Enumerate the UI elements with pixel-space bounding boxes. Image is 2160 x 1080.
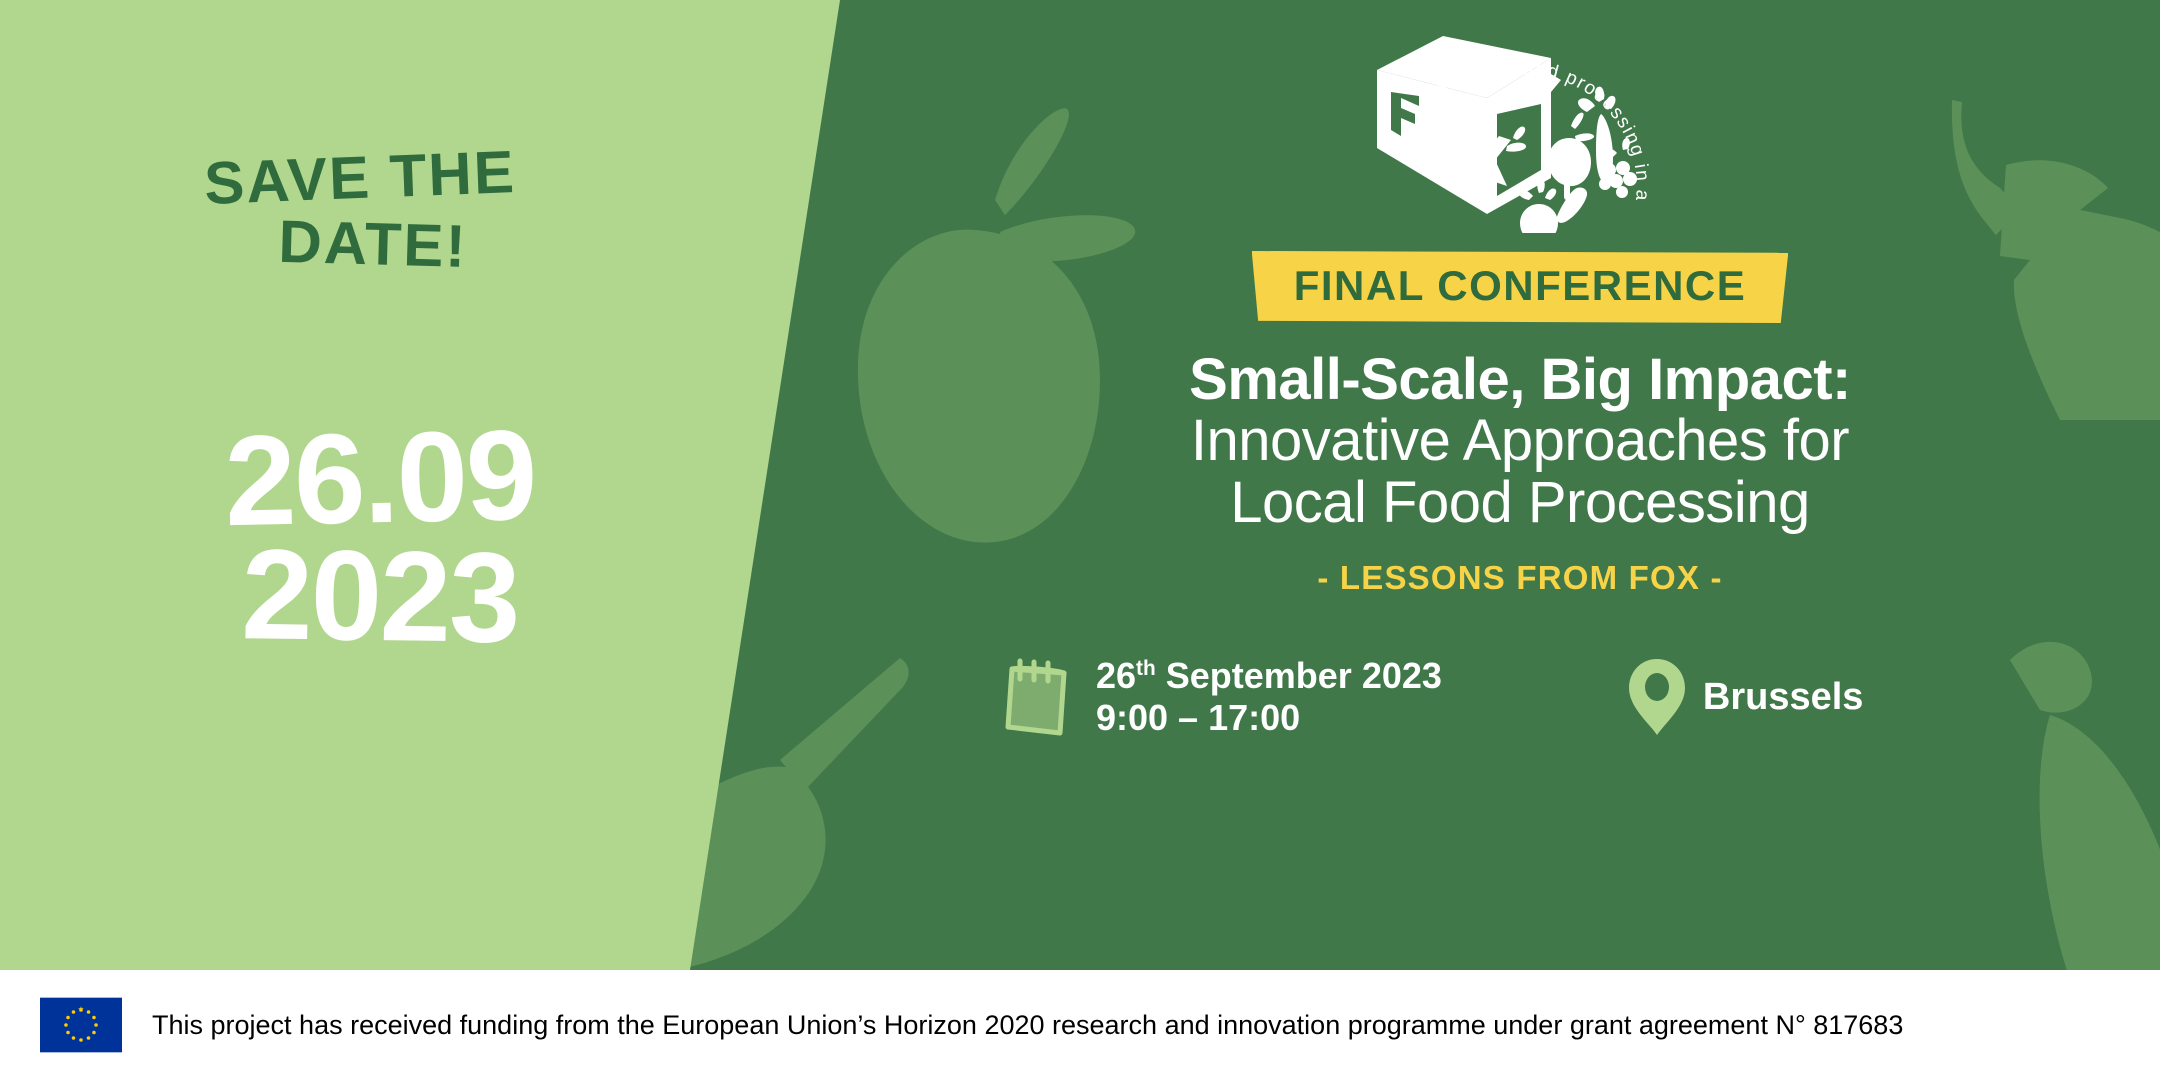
right-content-column: Food processing in a box FINAL CONFERENC… (880, 0, 2160, 970)
event-date-large: 26.09 2023 (120, 420, 640, 656)
final-conference-badge: FINAL CONFERENCE (1252, 251, 1789, 323)
event-date-line: 26th September 2023 (1096, 655, 1442, 697)
event-time: 9:00 – 17:00 (1096, 697, 1442, 739)
event-date-day: 26 (1096, 655, 1136, 696)
save-the-date-heading: SAVE THE DATE! (150, 150, 570, 272)
event-title-line3: Local Food Processing (1189, 472, 1851, 533)
eu-funding-footer: This project has received funding from t… (0, 970, 2160, 1080)
funding-statement: This project has received funding from t… (152, 1010, 1903, 1041)
event-title-line1: Small-Scale, Big Impact: (1189, 349, 1851, 410)
calendar-icon (1000, 653, 1074, 741)
banner-artwork: SAVE THE DATE! 26.09 2023 (0, 0, 2160, 970)
event-title-line2: Innovative Approaches for (1189, 410, 1851, 471)
event-title: Small-Scale, Big Impact: Innovative Appr… (1189, 349, 1851, 533)
fox-logo: Food processing in a box (1355, 18, 1685, 233)
event-date-ordinal: th (1136, 657, 1156, 680)
event-subtitle: - LESSONS FROM FOX - (1317, 559, 1722, 597)
event-date-year: 2023 (119, 534, 641, 659)
event-location-block: Brussels (1627, 657, 1864, 737)
event-details-row: 26th September 2023 9:00 – 17:00 Brussel… (880, 653, 2160, 741)
event-date-text: 26th September 2023 9:00 – 17:00 (1096, 655, 1442, 740)
eu-flag-icon (40, 997, 122, 1053)
event-location: Brussels (1703, 676, 1864, 719)
map-pin-icon (1627, 657, 1687, 737)
event-date-month-year: September 2023 (1156, 655, 1442, 696)
save-the-date-line1: SAVE THE (149, 142, 571, 214)
event-date-day-month: 26.09 (119, 415, 641, 544)
final-conference-badge-wrapper: FINAL CONFERENCE (1252, 251, 1789, 323)
event-date-block: 26th September 2023 9:00 – 17:00 (1000, 653, 1442, 741)
save-the-date-banner: SAVE THE DATE! 26.09 2023 (0, 0, 2160, 1080)
save-the-date-line2: DATE! (149, 210, 570, 278)
